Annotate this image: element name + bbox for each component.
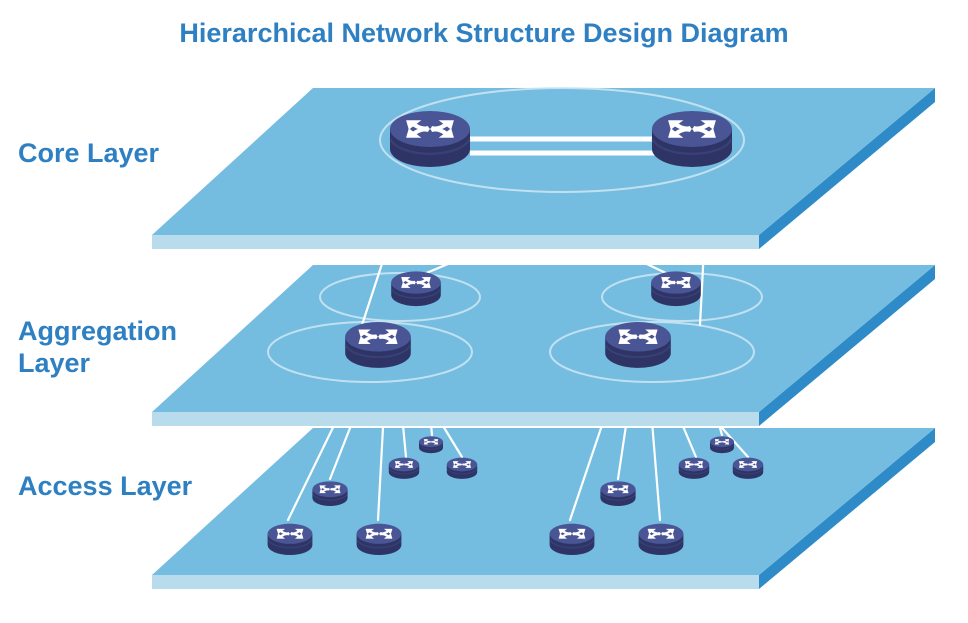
aggregation-router-left-back[interactable] <box>391 271 441 306</box>
access-router-r6[interactable] <box>710 436 734 453</box>
core-plane-surface <box>152 88 935 235</box>
layer-aggregation <box>152 265 935 426</box>
layer-core <box>152 88 935 249</box>
access-router-l6[interactable] <box>419 436 443 453</box>
access-router-l4[interactable] <box>389 458 419 479</box>
aggregation-plane-front-edge <box>152 412 759 426</box>
layer-access <box>152 428 935 589</box>
diagram-canvas: Hierarchical Network Structure Design Di… <box>0 0 968 623</box>
access-router-r1[interactable] <box>550 524 595 555</box>
core-router-right[interactable] <box>652 111 732 167</box>
access-router-r3[interactable] <box>600 481 635 506</box>
access-router-r5[interactable] <box>733 458 763 479</box>
core-router-left[interactable] <box>390 111 470 167</box>
access-router-r4[interactable] <box>679 458 709 479</box>
aggregation-router-right-front[interactable] <box>605 322 671 368</box>
aggregation-router-right-back[interactable] <box>651 271 701 306</box>
layer-label-aggregation-line2: Layer <box>18 348 91 378</box>
aggregation-plane-surface <box>152 265 935 412</box>
layer-label-aggregation-line1: Aggregation <box>18 316 177 346</box>
page-title: Hierarchical Network Structure Design Di… <box>179 18 788 48</box>
access-router-l1[interactable] <box>268 524 313 555</box>
access-router-l3[interactable] <box>312 481 347 506</box>
access-plane-front-edge <box>152 575 759 589</box>
access-plane-surface <box>152 428 935 575</box>
access-router-l2[interactable] <box>357 524 402 555</box>
core-plane-front-edge <box>152 235 759 249</box>
layer-label-access: Access Layer <box>18 471 193 501</box>
hierarchical-network-diagram: Hierarchical Network Structure Design Di… <box>0 0 968 623</box>
access-router-r2[interactable] <box>639 524 684 555</box>
aggregation-router-left-front[interactable] <box>345 322 411 368</box>
access-router-l5[interactable] <box>447 458 477 479</box>
layer-label-core: Core Layer <box>18 138 160 168</box>
